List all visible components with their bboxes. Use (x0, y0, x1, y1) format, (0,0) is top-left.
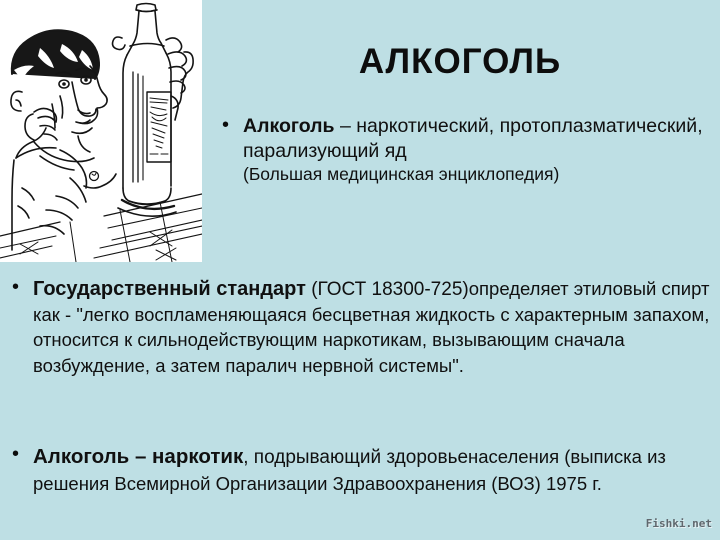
presentation-slide: АЛКОГОЛЬ • Алкоголь – наркотический, про… (0, 0, 720, 540)
bullet-text-gost: Государственный стандарт (ГОСТ 18300-725… (33, 276, 712, 380)
bullet-text-who: Алкоголь – наркотик, подрывающий здоровь… (33, 443, 712, 498)
bullet-source-intro: (Большая медицинская энциклопедия) (243, 164, 714, 186)
bullet-row: • Алкоголь – наркотический, протоплазмат… (222, 114, 714, 186)
bullet-block-gost: • Государственный стандарт (ГОСТ 18300-7… (12, 276, 712, 380)
bullet-text-intro: Алкоголь – наркотический, протоплазматич… (243, 114, 714, 186)
bullet-block-intro: • Алкоголь – наркотический, протоплазмат… (222, 114, 714, 186)
watermark-fishki: Fishki.net (646, 517, 712, 530)
bullet-rest-who: , подрывающий здоровье (243, 447, 468, 468)
bullet-row: • Алкоголь – наркотик, подрывающий здоро… (12, 443, 712, 498)
bullet-marker-icon: • (222, 114, 243, 138)
bullet-row: • Государственный стандарт (ГОСТ 18300-7… (12, 276, 712, 380)
page-title: АЛКОГОЛЬ (210, 44, 710, 81)
bullet-marker-icon: • (12, 443, 33, 467)
bullet-marker-icon: • (12, 276, 33, 300)
bullet-lead-who: Алкоголь – наркотик (33, 445, 243, 468)
bullet-lead-intro: Алкоголь (243, 115, 335, 137)
cartoon-man-with-bottle-icon (0, 0, 202, 262)
bullet-block-who: • Алкоголь – наркотик, подрывающий здоро… (12, 443, 712, 498)
bullet-rest-gost: (ГОСТ 18300-725) (306, 279, 469, 300)
bullet-lead-gost: Государственный стандарт (33, 278, 306, 300)
cartoon-illustration (0, 0, 202, 262)
